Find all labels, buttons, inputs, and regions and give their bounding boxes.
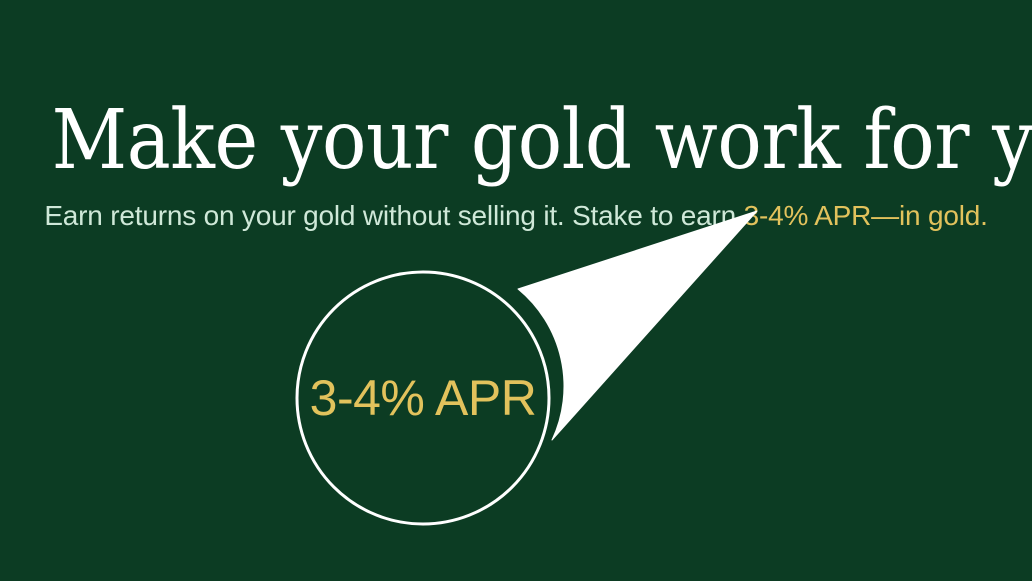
apr-callout-graphic <box>0 0 1032 581</box>
callout-apr-label: 3-4% APR <box>297 372 549 424</box>
slide-canvas: Make your gold work for you Earn returns… <box>0 0 1032 581</box>
callout-pointer-tail <box>518 211 757 440</box>
